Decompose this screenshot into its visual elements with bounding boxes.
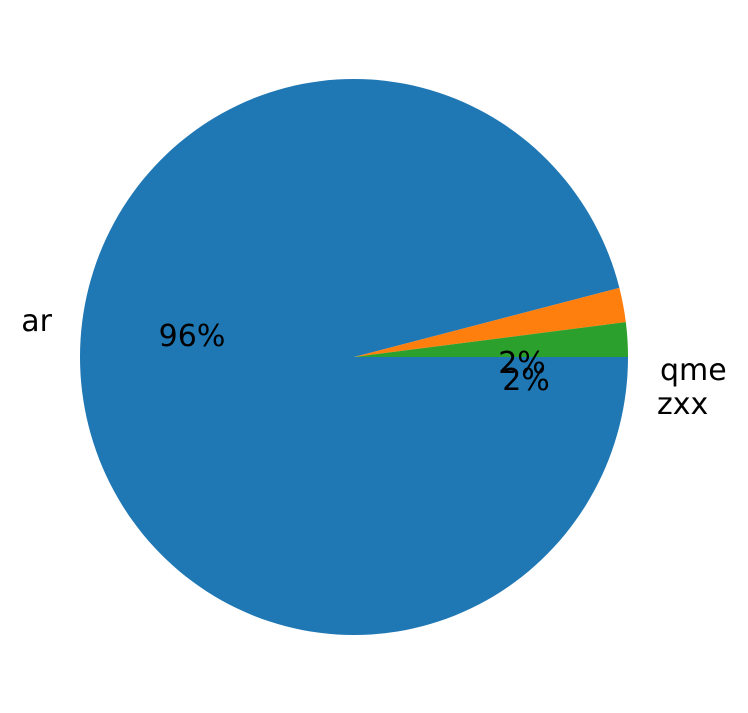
slice-category-label-qme: qme	[660, 356, 727, 386]
slice-category-label-ar: ar	[21, 307, 52, 337]
pie-chart-canvas	[0, 0, 748, 713]
pie-wedges	[80, 79, 628, 635]
slice-percent-label-zxx: 2%	[502, 366, 550, 396]
slice-percent-label-ar: 96%	[159, 322, 226, 352]
pie-chart-figure: 96% 2% 2% ar qme zxx	[0, 0, 748, 713]
pie-slice-ar	[80, 79, 628, 635]
slice-category-label-zxx: zxx	[657, 390, 708, 420]
